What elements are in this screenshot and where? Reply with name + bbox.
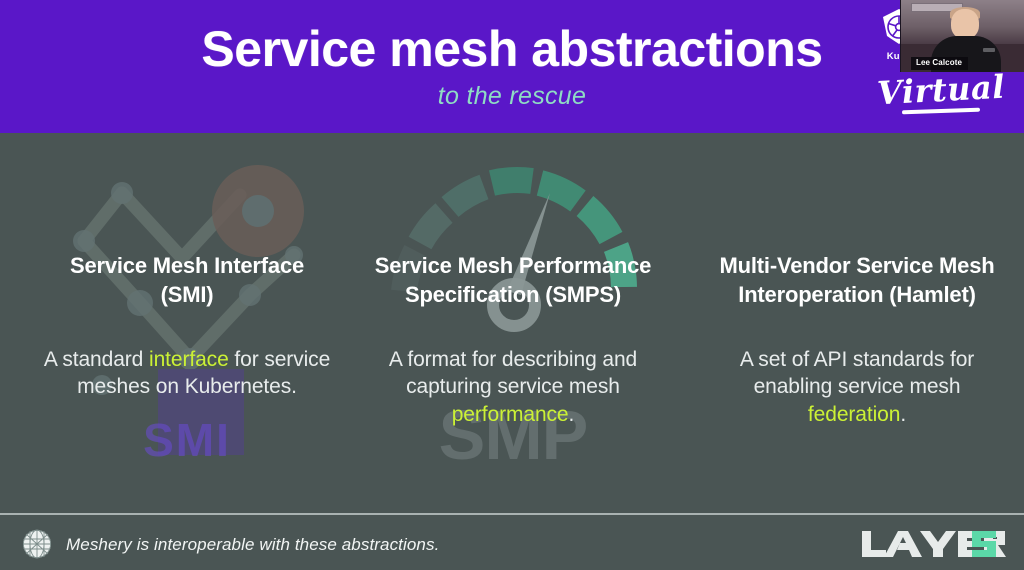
column-hamlet-body-highlight: federation — [808, 403, 900, 426]
column-hamlet: Multi-Vendor Service Mesh Interoperation… — [692, 133, 1022, 513]
footer-tagline: Meshery is interoperable with these abst… — [66, 535, 439, 555]
speaker-head — [951, 9, 979, 39]
slide-body: SMI Service Mesh Interface (SMI) A stand… — [0, 133, 1024, 513]
virtual-badge: Virtual — [876, 74, 1006, 113]
column-hamlet-body-post: . — [900, 403, 906, 426]
speaker-video-tile[interactable]: Lee Calcote — [900, 0, 1024, 72]
meshery-sphere-icon — [22, 529, 52, 559]
layer5-logo[interactable] — [860, 529, 1010, 559]
column-smps-heading-line2: Specification (SMPS) — [405, 282, 621, 307]
column-hamlet-body: A set of API standards for enabling serv… — [692, 346, 1022, 429]
slide-footer: Meshery is interoperable with these abst… — [0, 515, 1024, 570]
column-smi-heading: Service Mesh Interface (SMI) — [22, 251, 352, 310]
column-smi-body: A standard interface for service meshes … — [22, 346, 352, 401]
column-smps: SMP Service Mesh Performance Specificati… — [348, 133, 678, 513]
smi-watermark-text: SMI — [22, 413, 352, 467]
column-smps-heading: Service Mesh Performance Specification (… — [348, 251, 678, 310]
column-smi-heading-line1: Service Mesh Interface — [70, 253, 304, 278]
column-smps-body-pre: A format for describing and capturing se… — [389, 348, 637, 399]
speaker-name-label: Lee Calcote — [911, 57, 968, 70]
slide-subtitle: to the rescue — [0, 82, 1024, 111]
presentation-slide: Service mesh abstractions to the rescue … — [0, 0, 1024, 570]
column-hamlet-heading-line2: Interoperation (Hamlet) — [738, 282, 975, 307]
slide-header: Service mesh abstractions to the rescue … — [0, 0, 1024, 133]
column-smi-body-pre: A standard — [44, 348, 149, 371]
column-smi: SMI Service Mesh Interface (SMI) A stand… — [22, 133, 352, 513]
column-hamlet-heading: Multi-Vendor Service Mesh Interoperation… — [692, 251, 1022, 310]
column-smps-heading-line1: Service Mesh Performance — [375, 253, 651, 278]
column-hamlet-heading-line1: Multi-Vendor Service Mesh — [720, 253, 995, 278]
column-smps-body-highlight: performance — [452, 403, 569, 426]
column-hamlet-body-pre: A set of API standards for enabling serv… — [740, 348, 974, 399]
column-smi-body-highlight: interface — [149, 348, 229, 371]
speaker-shirt-logo — [983, 48, 995, 52]
column-smi-heading-line2: (SMI) — [161, 282, 214, 307]
virtual-label: Virtual — [875, 71, 1006, 110]
column-smps-body-post: . — [569, 403, 575, 426]
column-smps-body: A format for describing and capturing se… — [348, 346, 678, 429]
